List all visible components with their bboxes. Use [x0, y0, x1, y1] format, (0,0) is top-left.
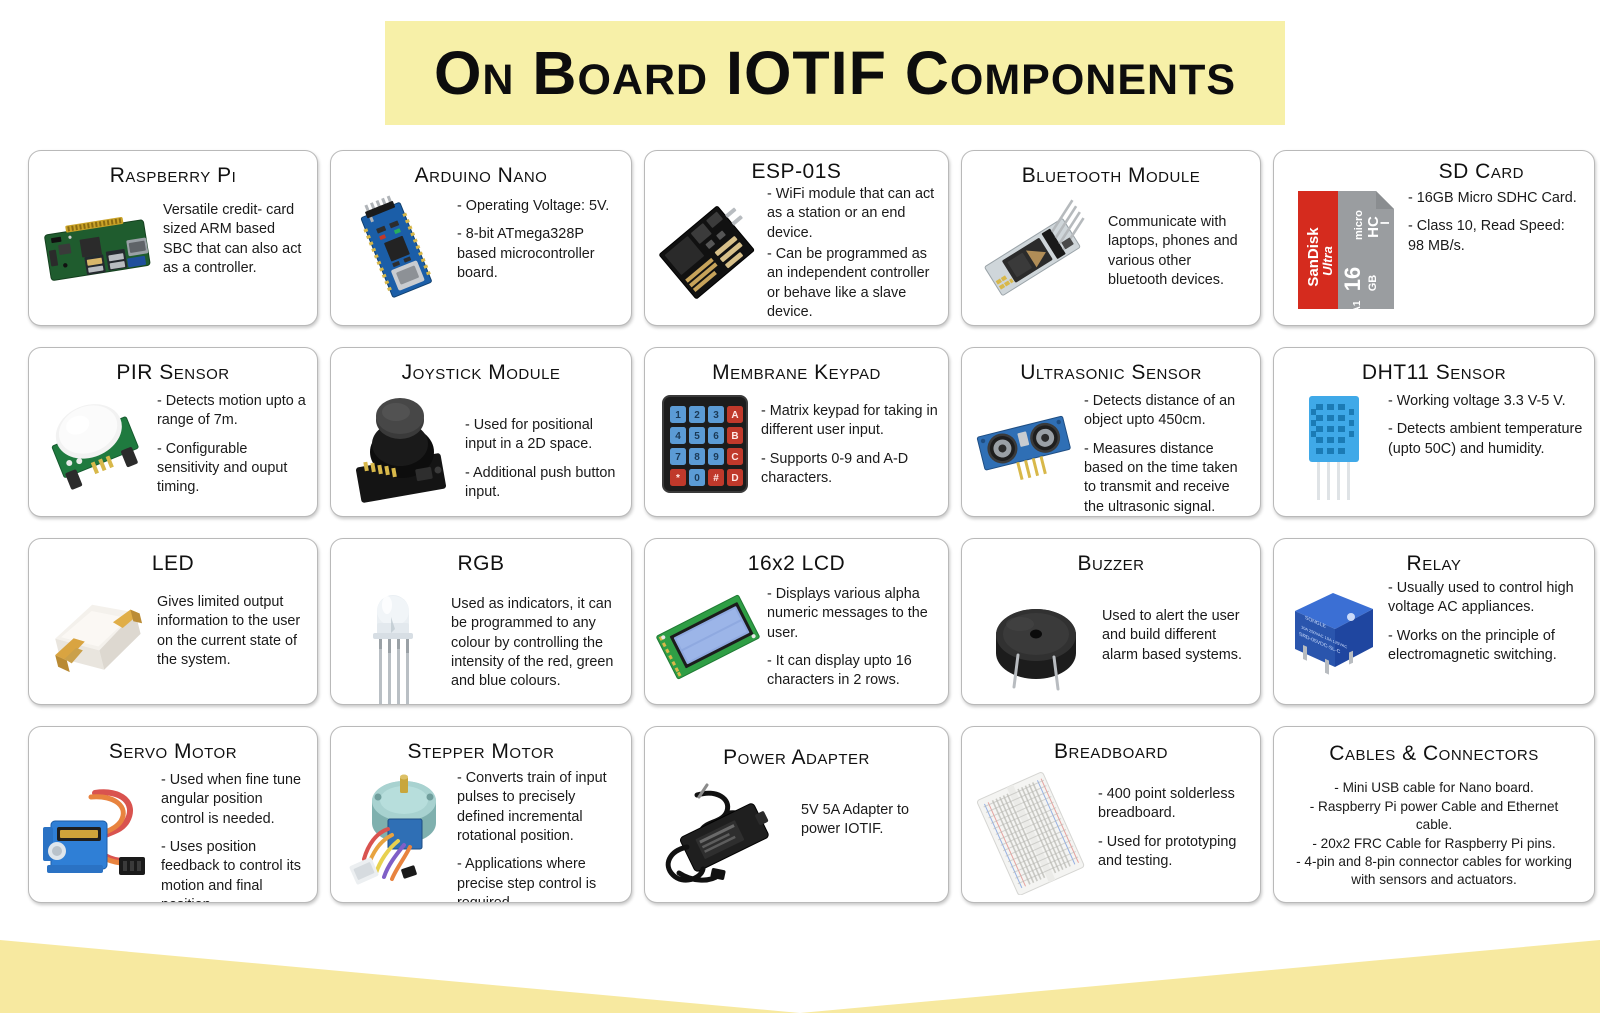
svg-text:2: 2 [694, 410, 700, 421]
card-cables-connectors[interactable]: Cables & Connectors - Mini USB cable for… [1273, 726, 1595, 903]
desc-line: Used as indicators, it can be programmed… [451, 595, 621, 691]
card-description: Gives limited output information to the … [157, 577, 307, 670]
card-title: Joystick Module [341, 362, 621, 384]
card-title: Relay [1284, 553, 1584, 575]
svg-text:B: B [731, 431, 738, 442]
card-ultrasonic-sensor[interactable]: Ultrasonic Sensor [961, 347, 1261, 517]
card-buzzer[interactable]: Buzzer Used to alert the user and [961, 538, 1261, 705]
desc-line: - Raspberry Pi power Cable and Ethernet … [1290, 798, 1578, 835]
card-title: Power Adapter [655, 747, 938, 769]
desc-line: - Usually used to control high voltage A… [1388, 579, 1584, 618]
desc-line: - Used when fine tune angular position c… [161, 771, 307, 829]
desc-line: Gives limited output information to the … [157, 593, 307, 670]
sd-capacity-unit: GB [1367, 275, 1379, 292]
desc-line: - Class 10, Read Speed: 98 MB/s. [1408, 217, 1584, 256]
esp-01s-image [655, 185, 761, 313]
arduino-nano-image [341, 189, 451, 303]
card-title: DHT11 Sensor [1284, 362, 1584, 384]
card-title: PIR Sensor [39, 362, 307, 384]
card-bluetooth-module[interactable]: Bluetooth Module [961, 150, 1261, 326]
svg-text:#: # [713, 473, 719, 484]
desc-line: - It can display upto 16 characters in 2… [767, 652, 938, 691]
ultrasonic-sensor-image [972, 386, 1078, 486]
card-description: Used to alert the user and build differe… [1102, 577, 1250, 665]
desc-line: - Applications where precise step contro… [457, 855, 621, 903]
sd-class: A1 [1352, 300, 1363, 313]
card-title: Ultrasonic Sensor [972, 362, 1250, 384]
card-relay[interactable]: Relay SONGLE SRD-05VDC-SL-C 10A 250VAC 1… [1273, 538, 1595, 705]
desc-line: - Detects ambient temperature (upto 50C)… [1388, 420, 1584, 459]
card-title: Buzzer [972, 553, 1250, 575]
card-title: Cables & Connectors [1284, 743, 1584, 765]
card-description: - Operating Voltage: 5V. - 8-bit ATmega3… [457, 189, 621, 283]
card-description: - Working voltage 3.3 V-5 V. - Detects a… [1388, 386, 1584, 459]
card-description: - 400 point solderless breadboard. - Use… [1098, 765, 1250, 871]
header-banner: On Board IOTIF Components [385, 21, 1285, 125]
desc-line: - Additional push button input. [465, 464, 621, 503]
card-description: - Detects motion upto a range of 7m. - C… [157, 386, 307, 497]
card-title: LED [39, 553, 307, 575]
desc-line: - Displays various alpha numeric message… [767, 585, 938, 643]
power-adapter-image [655, 771, 795, 895]
sd-card-image: SanDisk Ultra 16 GB micro HC A1 I [1290, 185, 1402, 313]
card-raspberry-pi[interactable]: Raspberry Pi [28, 150, 318, 326]
card-description: Used as indicators, it can be programmed… [451, 577, 621, 691]
desc-line: - 400 point solderless breadboard. [1098, 785, 1250, 824]
card-description: - Matrix keypad for taking in different … [761, 386, 938, 488]
membrane-keypad-image: 1 2 3 A 4 5 6 B 7 8 9 C * 0 # [655, 386, 755, 496]
card-title: Bluetooth Module [972, 165, 1250, 187]
desc-line: - WiFi module that can act as a station … [767, 185, 938, 243]
card-sd-card[interactable]: SD Card SanDisk Ultra 16 GB micro HC A1 [1273, 150, 1595, 326]
desc-line: - Supports 0-9 and A-D characters. [761, 450, 938, 489]
svg-text:3: 3 [713, 410, 719, 421]
card-lcd-16x2[interactable]: 16x2 LCD [644, 538, 949, 705]
sd-speed: I [1378, 221, 1392, 224]
card-title: RGB [341, 553, 621, 575]
card-breadboard[interactable]: Breadboard [961, 726, 1261, 903]
desc-line: - Converts train of input pulses to prec… [457, 769, 621, 846]
components-grid: Raspberry Pi [28, 150, 1574, 903]
svg-text:D: D [731, 473, 738, 484]
card-description: - Displays various alpha numeric message… [767, 577, 938, 690]
desc-line: - Measures distance based on the time ta… [1084, 440, 1250, 517]
desc-line: - Matrix keypad for taking in different … [761, 402, 938, 441]
desc-line: - Works on the principle of electromagne… [1388, 627, 1584, 666]
card-title: SD Card [1284, 161, 1584, 183]
desc-line: - Working voltage 3.3 V-5 V. [1388, 392, 1584, 411]
svg-text:C: C [731, 452, 738, 463]
card-pir-sensor[interactable]: PIR Sensor [28, 347, 318, 517]
sd-capacity: 16 [1340, 267, 1365, 291]
card-title: ESP-01S [655, 161, 938, 183]
card-stepper-motor[interactable]: Stepper Motor [330, 726, 632, 903]
card-description: 5V 5A Adapter to power IOTIF. [801, 771, 938, 840]
desc-line: - Used for prototyping and testing. [1098, 833, 1250, 872]
card-description: Versatile credit- card sized ARM based S… [163, 189, 307, 278]
relay-image: SONGLE SRD-05VDC-SL-C 10A 250VAC 10A 125… [1284, 577, 1382, 679]
desc-line: Communicate with laptops, phones and var… [1108, 213, 1250, 290]
card-dht11-sensor[interactable]: DHT11 Sensor [1273, 347, 1595, 517]
servo-motor-image [39, 765, 155, 895]
desc-line: - Mini USB cable for Nano board. [1290, 779, 1578, 797]
desc-line: - 16GB Micro SDHC Card. [1408, 189, 1584, 208]
chevron-shape [0, 940, 1600, 1013]
sd-sub: Ultra [1320, 246, 1335, 276]
svg-text:1: 1 [675, 410, 681, 421]
card-esp-01s[interactable]: ESP-01S [644, 150, 949, 326]
dht11-sensor-image [1284, 386, 1382, 504]
sd-micro: micro [1353, 210, 1365, 240]
card-membrane-keypad[interactable]: Membrane Keypad 1 2 3 A 4 5 6 B 7 8 [644, 347, 949, 517]
card-description: - Mini USB cable for Nano board. - Raspb… [1284, 767, 1584, 890]
desc-line: - Detects distance of an object upto 450… [1084, 392, 1250, 431]
card-joystick-module[interactable]: Joystick Module [330, 347, 632, 517]
footer-chevron [0, 900, 1600, 1013]
desc-line: - Can be programmed as an independent co… [767, 245, 938, 322]
desc-line: - 20x2 FRC Cable for Raspberry Pi pins. [1290, 835, 1578, 853]
card-title: Stepper Motor [341, 741, 621, 763]
svg-text:*: * [676, 473, 680, 484]
desc-line: Used to alert the user and build differe… [1102, 607, 1250, 665]
card-description: - 16GB Micro SDHC Card. - Class 10, Read… [1408, 185, 1584, 256]
svg-text:6: 6 [713, 431, 719, 442]
desc-line: - Uses position feedback to control its … [161, 838, 307, 903]
desc-line: - 8-bit ATmega328P based microcontroller… [457, 225, 621, 283]
led-image [39, 577, 151, 685]
lcd-image [655, 577, 761, 683]
card-title: Arduino Nano [341, 165, 621, 187]
page-title: On Board IOTIF Components [434, 43, 1236, 104]
svg-text:7: 7 [675, 452, 681, 463]
rgb-led-image [341, 577, 445, 705]
svg-text:9: 9 [713, 452, 719, 463]
card-description: - Converts train of input pulses to prec… [457, 765, 621, 903]
svg-text:A: A [731, 410, 738, 421]
pir-sensor-image [39, 386, 151, 498]
card-rgb[interactable]: RGB [330, 538, 632, 705]
card-power-adapter[interactable]: Power Adapter [644, 726, 949, 903]
card-description: - WiFi module that can act as a station … [767, 185, 938, 322]
desc-line: - 4-pin and 8-pin connector cables for w… [1290, 853, 1578, 890]
card-title: Membrane Keypad [655, 362, 938, 384]
desc-line: - Configurable sensitivity and ouput tim… [157, 440, 307, 498]
card-led[interactable]: LED Gives [28, 538, 318, 705]
card-description: Communicate with laptops, phones and var… [1108, 189, 1250, 290]
joystick-module-image [341, 386, 459, 506]
card-description: - Detects distance of an object upto 450… [1084, 386, 1250, 517]
buzzer-image [972, 577, 1096, 695]
desc-line: 5V 5A Adapter to power IOTIF. [801, 801, 938, 840]
svg-text:5: 5 [694, 431, 700, 442]
sd-hc: HC [1365, 216, 1382, 238]
desc-line: - Detects motion upto a range of 7m. [157, 392, 307, 431]
svg-text:8: 8 [694, 452, 700, 463]
desc-line: - Operating Voltage: 5V. [457, 197, 621, 216]
card-arduino-nano[interactable]: Arduino Nano [330, 150, 632, 326]
raspberry-pi-image [39, 189, 157, 291]
card-title: 16x2 LCD [655, 553, 938, 575]
card-title: Servo Motor [39, 741, 307, 763]
stepper-motor-image [341, 765, 451, 895]
desc-line: Versatile credit- card sized ARM based S… [163, 201, 307, 278]
svg-text:4: 4 [675, 431, 681, 442]
card-description: - Used for positional input in a 2D spac… [465, 386, 621, 502]
card-description: - Usually used to control high voltage A… [1388, 577, 1584, 665]
svg-text:0: 0 [694, 473, 700, 484]
card-title: Breadboard [972, 741, 1250, 763]
bluetooth-module-image [972, 189, 1102, 307]
card-title: Raspberry Pi [39, 165, 307, 187]
card-servo-motor[interactable]: Servo Motor [28, 726, 318, 903]
card-description: - Used when fine tune angular position c… [161, 765, 307, 903]
breadboard-image [972, 765, 1092, 895]
desc-line: - Used for positional input in a 2D spac… [465, 416, 621, 455]
